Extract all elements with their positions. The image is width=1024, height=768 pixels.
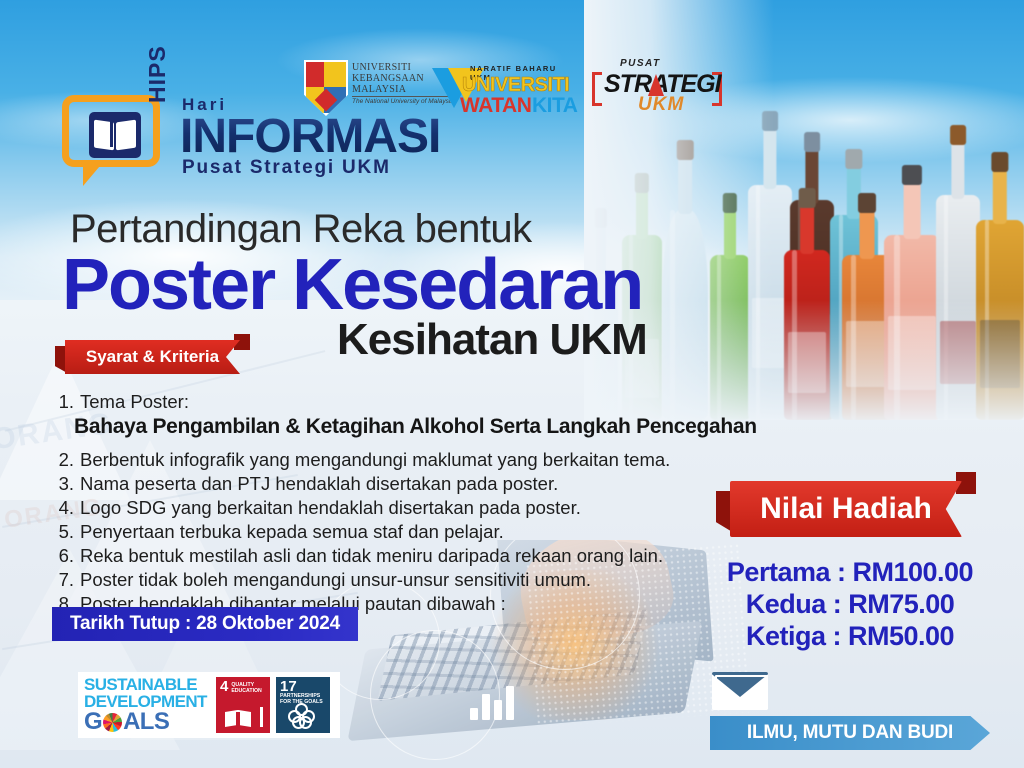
list-item-number: 6. <box>50 544 74 568</box>
watan-kita-text: KITA <box>532 94 577 118</box>
sdg-goals-als: ALS <box>123 710 169 734</box>
open-book-icon <box>89 112 141 158</box>
watan-watan-text: WATAN <box>460 94 531 118</box>
deadline-banner: Tarikh Tutup : 28 Oktober 2024 <box>52 607 358 641</box>
sdg-pencil-icon <box>260 707 263 727</box>
list-item-number: 3. <box>50 472 74 496</box>
sdg-wordmark: SUSTAINABLE DEVELOPMENT G ALS <box>84 676 210 734</box>
list-item-text: Tema Poster: <box>80 390 189 414</box>
prize-first: Pertama : RM100.00 <box>700 556 1000 588</box>
sdg-goals-g: G <box>84 710 102 734</box>
strategi-pusat-text: PUSAT <box>620 58 661 69</box>
list-item: 1. Tema Poster: <box>50 390 880 414</box>
sdg-word-goals: G ALS <box>84 710 210 734</box>
sdg-goal-4-number: 4 <box>220 681 228 693</box>
sdg-rings-icon <box>288 703 316 729</box>
list-item-text: Reka bentuk mestilah asli dan tidak meni… <box>80 544 663 568</box>
strategi-ukm-text: UKM <box>638 94 684 116</box>
headline-line-2: Poster Kesedaran <box>62 248 642 322</box>
nilai-hadiah-ribbon: Nilai Hadiah <box>716 481 976 537</box>
headline-line-3: Kesihatan UKM <box>337 315 647 365</box>
list-item-number: 7. <box>50 568 74 592</box>
universiti-watan-kita-logo: NARATIF BAHARU UKM UNIVERSITI WATAN KITA <box>432 64 572 120</box>
sdg-goal-17-number: 17 <box>280 681 297 693</box>
list-item: 2. Berbentuk infografik yang mengandungi… <box>50 448 880 472</box>
sdg-word-sustainable: SUSTAINABLE <box>84 676 210 693</box>
motto-banner: ILMU, MUTU DAN BUDI <box>710 716 990 750</box>
list-item-text: Logo SDG yang berkaitan hendaklah disert… <box>80 496 581 520</box>
hips-pusat-text: Pusat Strategi UKM <box>182 157 391 179</box>
list-item-text: Poster tidak boleh mengandungi unsur-uns… <box>80 568 591 592</box>
syarat-kriteria-ribbon: Syarat & Kriteria <box>55 340 250 374</box>
nilai-hadiah-label: Nilai Hadiah <box>730 481 962 537</box>
pusat-strategi-ukm-logo: PUSAT STRATEGI UKM <box>592 58 722 120</box>
poster-canvas: ORANG ORANG <box>0 0 1024 768</box>
sdg-book-icon <box>225 710 251 727</box>
envelope-icon <box>712 672 768 710</box>
strategi-triangle-icon <box>648 74 664 96</box>
list-item-number: 4. <box>50 496 74 520</box>
book-spine <box>110 119 113 147</box>
sdg-logo-block: SUSTAINABLE DEVELOPMENT G ALS 4 QUALITY … <box>78 672 340 738</box>
prize-third: Ketiga : RM50.00 <box>700 620 1000 652</box>
hips-informasi-text: INFORMASI <box>180 109 440 164</box>
list-item-number: 5. <box>50 520 74 544</box>
sdg-goal-4-tile: 4 QUALITY EDUCATION <box>216 677 270 733</box>
prize-second: Kedua : RM75.00 <box>700 588 1000 620</box>
list-item-text: Penyertaan terbuka kepada semua staf dan… <box>80 520 504 544</box>
speech-bubble-icon <box>62 95 160 167</box>
hips-mark-text: HIPS <box>144 45 171 103</box>
list-item-text: Berbentuk infografik yang mengandungi ma… <box>80 448 670 472</box>
hips-logo: HIPS Hari INFORMASI Pusat Strategi UKM <box>62 95 412 185</box>
poster-theme-text: Bahaya Pengambilan & Ketagihan Alkohol S… <box>74 415 880 439</box>
bar-chart-icon <box>470 678 516 720</box>
sdg-goal-17-tile: 17 PARTNERSHIPS FOR THE GOALS <box>276 677 330 733</box>
syarat-kriteria-label: Syarat & Kriteria <box>65 340 240 374</box>
prize-list: Pertama : RM100.00 Kedua : RM75.00 Ketig… <box>700 556 1000 652</box>
list-item-number: 1. <box>50 390 74 414</box>
sdg-color-wheel-icon <box>103 713 122 732</box>
list-item-text: Nama peserta dan PTJ hendaklah disertaka… <box>80 472 558 496</box>
strategi-bracket-left <box>592 72 602 106</box>
list-item-number: 2. <box>50 448 74 472</box>
